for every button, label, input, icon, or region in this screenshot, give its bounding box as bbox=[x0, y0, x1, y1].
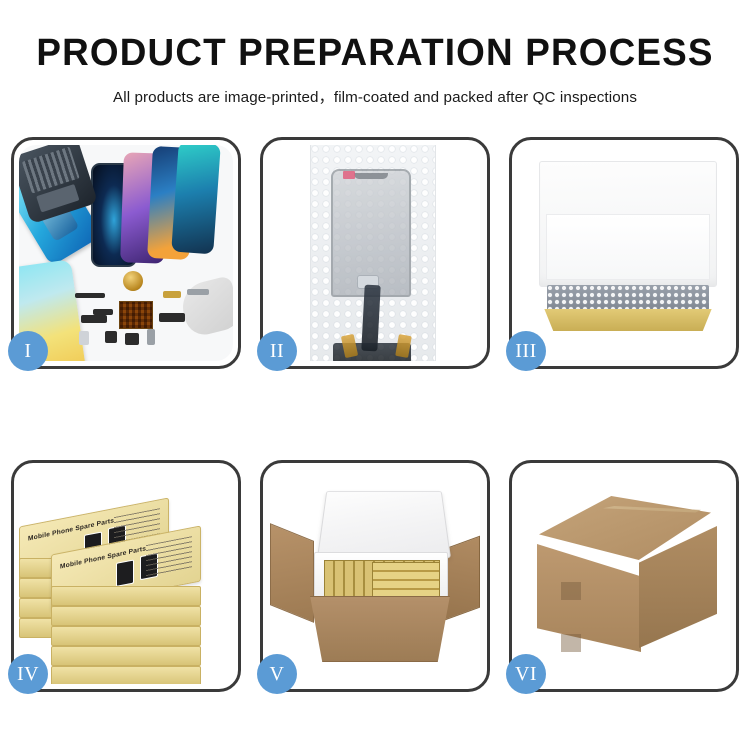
box-layer-f5 bbox=[51, 666, 201, 684]
bubble-wrap bbox=[310, 145, 436, 361]
open-yellow-box-photo bbox=[517, 145, 731, 361]
carton-left-face bbox=[537, 544, 641, 652]
part-motor bbox=[125, 333, 139, 345]
yellow-boxes-row-2 bbox=[372, 562, 440, 600]
page-subtitle: All products are image-printed，film-coat… bbox=[0, 85, 750, 107]
box-front-edge bbox=[539, 309, 717, 331]
box-screen-thumb-3 bbox=[116, 559, 134, 586]
process-step-3[interactable]: III bbox=[509, 137, 739, 369]
carton-with-foam-photo bbox=[268, 468, 482, 684]
step-badge-1: I bbox=[8, 331, 48, 371]
part-strip-2 bbox=[93, 309, 113, 315]
speaker-part bbox=[123, 271, 143, 291]
box-layer-f1 bbox=[51, 586, 201, 606]
phone-parts-photo bbox=[19, 145, 233, 361]
part-cable bbox=[159, 313, 185, 322]
step-1-image bbox=[19, 145, 233, 361]
spare-parts-cluster bbox=[75, 285, 207, 361]
carton-mark-1 bbox=[561, 582, 581, 600]
foam-box-lid bbox=[317, 491, 451, 558]
box-stack: Mobile Phone Spare Parts Mobile Phone Sp… bbox=[19, 482, 233, 682]
box-layer-f2 bbox=[51, 606, 201, 626]
part-flex-gold bbox=[163, 291, 181, 298]
bubble-wrapped-screen-photo bbox=[268, 145, 482, 361]
phone-screen-teal bbox=[171, 145, 221, 254]
box-lid-white bbox=[539, 161, 717, 287]
step-badge-3: III bbox=[506, 331, 546, 371]
process-step-4[interactable]: Mobile Phone Spare Parts Mobile Phone Sp… bbox=[11, 460, 241, 692]
step-badge-5: V bbox=[257, 654, 297, 694]
page-header: PRODUCT PREPARATION PROCESS All products… bbox=[0, 0, 750, 107]
carton-front-panel bbox=[304, 596, 456, 662]
box-spec-lines-front bbox=[146, 536, 192, 577]
process-step-6[interactable]: VI bbox=[509, 460, 739, 692]
process-step-5[interactable]: V bbox=[260, 460, 490, 692]
step-5-image bbox=[268, 468, 482, 684]
flex-cable bbox=[361, 285, 380, 352]
box-layer-f4 bbox=[51, 646, 201, 666]
step-4-image: Mobile Phone Spare Parts Mobile Phone Sp… bbox=[19, 468, 233, 684]
part-pin bbox=[147, 329, 155, 345]
pink-label-tab bbox=[343, 171, 355, 179]
chip-array-part bbox=[119, 301, 153, 329]
part-sim-tray bbox=[79, 331, 89, 345]
step-badge-4: IV bbox=[8, 654, 48, 694]
carton-flap-left bbox=[270, 523, 314, 623]
step-badge-6: VI bbox=[506, 654, 546, 694]
process-step-2[interactable]: II bbox=[260, 137, 490, 369]
part-camera bbox=[105, 331, 117, 343]
bubble-wrap-contents bbox=[547, 285, 709, 311]
process-step-1[interactable]: I bbox=[11, 137, 241, 369]
part-connector bbox=[81, 315, 107, 323]
box-layer-f3 bbox=[51, 626, 201, 646]
sealed-carton-photo bbox=[517, 468, 731, 684]
stacked-boxes-photo: Mobile Phone Spare Parts Mobile Phone Sp… bbox=[19, 468, 233, 684]
carton-mark-2 bbox=[561, 634, 581, 652]
part-bracket bbox=[187, 289, 209, 295]
page-title: PRODUCT PREPARATION PROCESS bbox=[11, 34, 739, 74]
step-6-image bbox=[517, 468, 731, 684]
step-badge-2: II bbox=[257, 331, 297, 371]
part-strip-1 bbox=[75, 293, 105, 298]
step-3-image bbox=[517, 145, 731, 361]
process-step-grid: I II bbox=[11, 137, 739, 692]
step-2-image bbox=[268, 145, 482, 361]
